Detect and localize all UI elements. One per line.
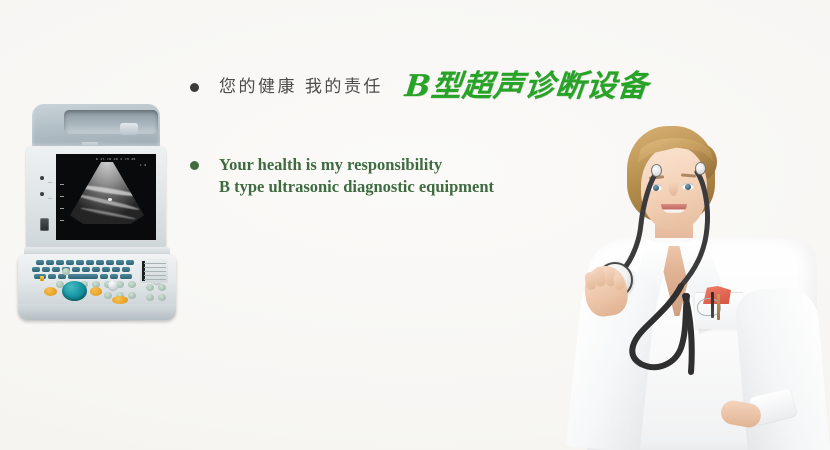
keyboard-key[interactable] <box>46 260 54 265</box>
stethoscope-earpiece-right <box>695 162 706 175</box>
keyboard-key[interactable] <box>72 267 80 272</box>
eye-right <box>682 183 694 190</box>
pocket-pen-wood <box>717 294 720 320</box>
promo-banner: W 23 CN G8 2 CH 48 C 8 <box>0 0 830 450</box>
pocket-pen-black <box>711 292 714 318</box>
power-led <box>40 276 44 281</box>
keyboard-key[interactable] <box>102 267 110 272</box>
screen-depth-tick-2 <box>60 196 64 197</box>
print-button[interactable] <box>90 287 102 296</box>
scan-tissue-band-3 <box>80 207 136 221</box>
keyboard-key[interactable] <box>36 260 44 265</box>
keyboard-key[interactable] <box>116 260 124 265</box>
english-line-1: Your health is my responsibility <box>219 154 494 176</box>
keyboard-key[interactable] <box>48 274 56 279</box>
trackball[interactable] <box>62 281 87 301</box>
keyboard-key[interactable] <box>112 267 120 272</box>
machine-front-edge <box>18 304 176 320</box>
machine-keyboard-base <box>18 254 176 320</box>
headline-row: 您的健康 我的责任 B型超声诊断设备 <box>190 72 690 102</box>
iris-left <box>653 185 659 191</box>
ultrasound-scan-sector <box>70 162 144 224</box>
keyboard-key[interactable] <box>96 260 104 265</box>
screen-depth-tick-4 <box>60 220 64 221</box>
monitor-tick-2 <box>48 198 52 199</box>
tgc-slider-line <box>144 279 166 280</box>
scan-measurement-marker <box>108 198 112 201</box>
english-text-group: Your health is my responsibility B type … <box>219 154 494 198</box>
monitor-led-2 <box>40 192 44 196</box>
keyboard-key[interactable] <box>92 267 100 272</box>
bullet-dot-icon <box>190 161 199 170</box>
function-key[interactable] <box>128 281 136 288</box>
monitor-power-switch[interactable] <box>40 218 49 231</box>
english-line-2: B type ultrasonic diagnostic equipment <box>219 176 494 198</box>
keyboard-key[interactable] <box>110 274 118 279</box>
screen-depth-tick-1 <box>60 184 64 185</box>
tgc-slider-line <box>144 263 166 264</box>
chinese-subtitle: 您的健康 我的责任 <box>219 72 383 102</box>
stethoscope-earpiece-left <box>651 164 662 177</box>
model-female-doctor <box>545 120 830 450</box>
keyboard-key[interactable] <box>122 267 130 272</box>
keyboard-key[interactable] <box>106 260 114 265</box>
function-key[interactable] <box>146 294 154 301</box>
screen-depth-tick-3 <box>60 208 64 209</box>
bullet-dot-icon <box>190 83 199 92</box>
screen-readout-right: C 8 <box>140 163 147 167</box>
function-key[interactable] <box>158 294 166 301</box>
function-key[interactable] <box>158 284 166 291</box>
monitor-led-1 <box>40 176 44 180</box>
keyboard-spacebar[interactable] <box>68 274 98 279</box>
keyboard-key[interactable] <box>126 260 134 265</box>
keyboard-key[interactable] <box>76 260 84 265</box>
keyboard-key[interactable] <box>56 260 64 265</box>
nose <box>669 182 678 196</box>
iris-right <box>685 184 691 190</box>
chinese-headline: B型超声诊断设备 <box>403 72 650 102</box>
product-ultrasound-machine: W 23 CN G8 2 CH 48 C 8 <box>16 104 178 322</box>
eye-left <box>650 184 662 191</box>
machine-carry-handle <box>64 110 158 134</box>
tgc-slider-panel[interactable] <box>140 259 168 283</box>
function-key[interactable] <box>104 292 112 299</box>
keyboard-key[interactable] <box>86 260 94 265</box>
keyboard-key[interactable] <box>32 267 40 272</box>
gain-knob-1[interactable] <box>108 280 118 290</box>
tgc-slider-line <box>144 271 166 272</box>
keyboard-key[interactable] <box>100 274 108 279</box>
tgc-slider-line <box>144 267 166 268</box>
function-key[interactable] <box>62 268 70 275</box>
machine-monitor-bezel: W 23 CN G8 2 CH 48 C 8 <box>26 146 166 248</box>
keyboard-key[interactable] <box>82 267 90 272</box>
ultrasound-display-screen: W 23 CN G8 2 CH 48 C 8 <box>56 154 156 240</box>
screen-readout-top: W 23 CN G8 2 CH 48 <box>96 157 136 161</box>
freeze-button[interactable] <box>44 287 57 296</box>
keyboard-key[interactable] <box>42 267 50 272</box>
finger-4 <box>613 274 625 291</box>
machine-handle-notch <box>120 123 138 135</box>
eyebrow-right <box>681 173 696 177</box>
function-key[interactable] <box>146 284 154 291</box>
keyboard-key[interactable] <box>66 260 74 265</box>
measure-button[interactable] <box>112 296 128 304</box>
keyboard-key[interactable] <box>120 274 132 279</box>
keyboard-key[interactable] <box>52 267 60 272</box>
function-key[interactable] <box>128 292 136 299</box>
tgc-slider-line <box>144 275 166 276</box>
monitor-tick-1 <box>48 182 52 183</box>
